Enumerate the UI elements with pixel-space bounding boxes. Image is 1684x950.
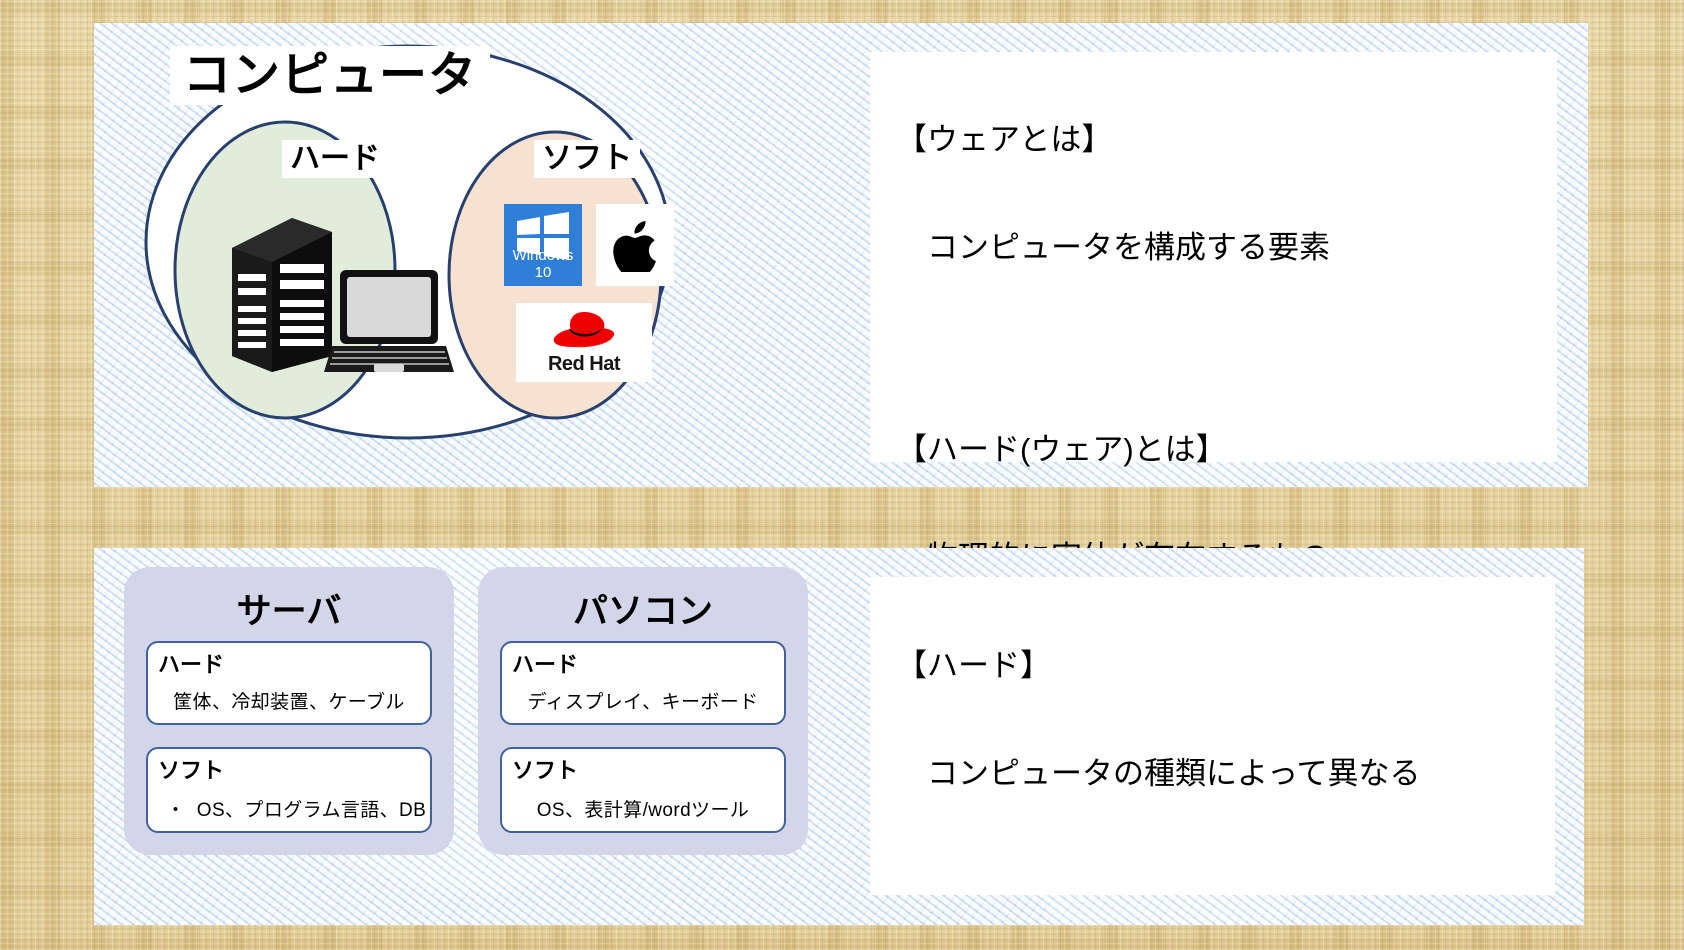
ware-line-1: コンピュータを構成する要素 (896, 232, 1440, 278)
server-tower-icon (232, 218, 332, 372)
server-soft-body: ・ OS、プログラム言語、DB (148, 795, 430, 822)
server-soft-section: ソフト ・ OS、プログラム言語、DB (146, 747, 432, 833)
pc-hard-title: ハード (512, 647, 578, 679)
server-hard-body: 筐体、冷却装置、ケーブル (148, 687, 430, 714)
windows-logo-caption: Windows 10 (504, 247, 582, 281)
venn-hard-label: ハード (282, 140, 388, 178)
apple-logo-tile (596, 204, 674, 286)
pc-hard-section: ハード ディスプレイ、キーボード (500, 641, 786, 725)
role-line-1: コンピュータの種類によって異なる (896, 758, 1421, 804)
slide-canvas: コンピュータ ハード ソフト (0, 0, 1684, 950)
server-card: サーバ ハード 筐体、冷却装置、ケーブル ソフト ・ OS、プログラム言語、DB (124, 567, 454, 855)
apple-logo-icon (612, 218, 658, 272)
hardware-icon-group (214, 196, 454, 376)
server-hard-section: ハード 筐体、冷却装置、ケーブル (146, 641, 432, 725)
red-hat-logo-icon (549, 309, 619, 349)
pc-hard-body: ディスプレイ、キーボード (502, 687, 784, 714)
venn-soft-label: ソフト (534, 140, 640, 178)
server-card-title: サーバ (124, 583, 454, 634)
venn-title: コンピュータ (170, 46, 490, 105)
laptop-icon (324, 270, 454, 372)
pc-soft-section: ソフト OS、表計算/wordツール (500, 747, 786, 833)
server-hard-title: ハード (158, 647, 224, 679)
pc-soft-title: ソフト (512, 753, 578, 785)
server-soft-title: ソフト (158, 753, 224, 785)
ware-line-2 (896, 340, 1440, 372)
server-soft-body-text: OS、プログラム言語、DB (197, 800, 426, 821)
pc-soft-body: OS、表計算/wordツール (502, 795, 784, 822)
windows-10-logo-tile: Windows 10 (504, 204, 582, 286)
ware-line-0: 【ウェアとは】 (896, 124, 1440, 170)
pc-card-title: パソコン (478, 583, 808, 634)
server-soft-bullet: ・ (166, 800, 185, 821)
pc-card: パソコン ハード ディスプレイ、キーボード ソフト OS、表計算/wordツール (478, 567, 808, 855)
red-hat-logo-caption: Red Hat (516, 353, 652, 376)
role-description-text: 【ハード】 コンピュータの種類によって異なる 【ソフト】 役割毎に異なる →同じ… (896, 588, 1421, 950)
role-line-0: 【ハード】 (896, 650, 1421, 696)
red-hat-logo-tile: Red Hat (516, 303, 652, 382)
role-line-2 (896, 866, 1421, 898)
ware-line-3: 【ハード(ウェア)とは】 (896, 434, 1440, 480)
